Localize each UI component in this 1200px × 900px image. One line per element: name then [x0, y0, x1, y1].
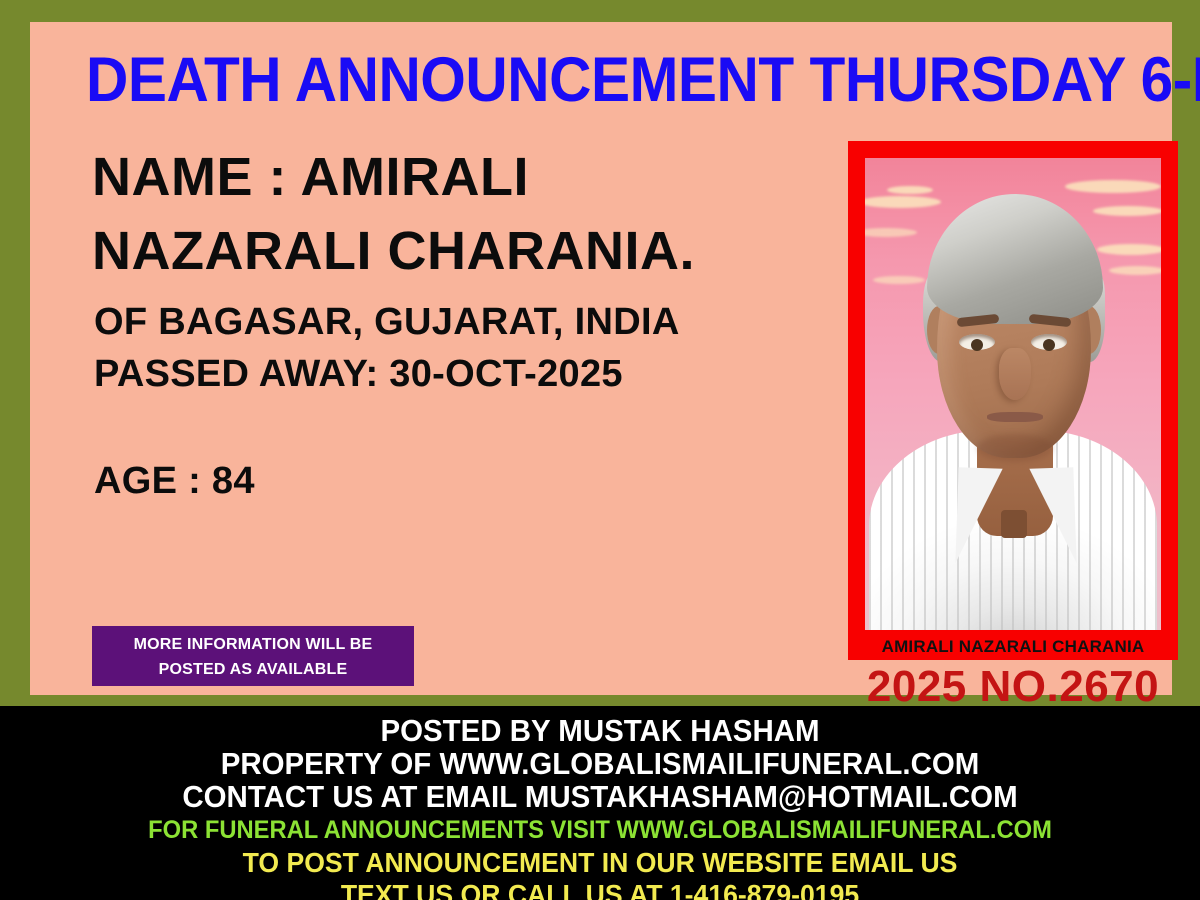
footer-announcements-website: FOR FUNERAL ANNOUNCEMENTS VISIT WWW.GLOB…: [30, 814, 1170, 847]
cloud-icon: [1109, 266, 1161, 275]
pupil-right: [1043, 339, 1055, 351]
footer-post-announcement: TO POST ANNOUNCEMENT IN OUR WEBSITE EMAI…: [30, 847, 1170, 879]
info-box-line-1: MORE INFORMATION WILL BE: [134, 632, 373, 657]
chin-shadow: [977, 434, 1053, 462]
footer-property-of: PROPERTY OF WWW.GLOBALISMAILIFUNERAL.COM: [30, 747, 1170, 780]
portrait-photo: [865, 158, 1161, 630]
more-information-box: MORE INFORMATION WILL BE POSTED AS AVAIL…: [92, 626, 414, 686]
age-text: AGE : 84: [94, 460, 255, 503]
portrait-caption: AMIRALI NAZARALI CHARANIA: [848, 634, 1178, 660]
footer: POSTED BY MUSTAK HASHAM PROPERTY OF WWW.…: [0, 706, 1200, 900]
mouth: [987, 412, 1043, 422]
deceased-name: NAME : AMIRALI NAZARALI CHARANIA.: [92, 140, 832, 288]
pupil-left: [971, 339, 983, 351]
neck-shadow: [1001, 510, 1027, 538]
shirt-collar-right: [1029, 467, 1076, 564]
death-announcement-poster: DEATH ANNOUNCEMENT THURSDAY 6-NOV-2025 N…: [0, 0, 1200, 900]
portrait-frame: [848, 141, 1178, 656]
deceased-name-line-2: NAZARALI CHARANIA.: [92, 214, 832, 288]
main-panel: DEATH ANNOUNCEMENT THURSDAY 6-NOV-2025 N…: [30, 22, 1172, 695]
cloud-icon: [1097, 244, 1161, 255]
cloud-icon: [865, 228, 917, 237]
page-title: DEATH ANNOUNCEMENT THURSDAY 6-NOV-2025: [86, 48, 1100, 112]
cloud-icon: [873, 276, 925, 284]
shirt-collar-left: [955, 467, 1002, 564]
origin-text: OF BAGASAR, GUJARAT, INDIA: [94, 296, 834, 348]
deceased-name-line-1: NAME : AMIRALI: [92, 140, 832, 214]
cloud-icon: [865, 196, 941, 208]
info-box-line-2: POSTED AS AVAILABLE: [159, 657, 348, 682]
footer-posted-by: POSTED BY MUSTAK HASHAM: [30, 706, 1170, 747]
cloud-icon: [1093, 206, 1161, 216]
footer-phone-number: TEXT US OR CALL US AT 1-416-879-0195: [30, 879, 1170, 900]
nose: [999, 348, 1031, 400]
footer-contact-email: CONTACT US AT EMAIL MUSTAKHASHAM@HOTMAIL…: [30, 780, 1170, 814]
reference-number: 2025 NO.2670: [848, 662, 1178, 712]
passed-away-text: PASSED AWAY: 30-OCT-2025: [94, 348, 834, 400]
deceased-details: OF BAGASAR, GUJARAT, INDIA PASSED AWAY: …: [94, 296, 834, 400]
hair: [927, 194, 1103, 324]
cloud-icon: [1065, 180, 1161, 193]
cloud-icon: [887, 186, 933, 194]
